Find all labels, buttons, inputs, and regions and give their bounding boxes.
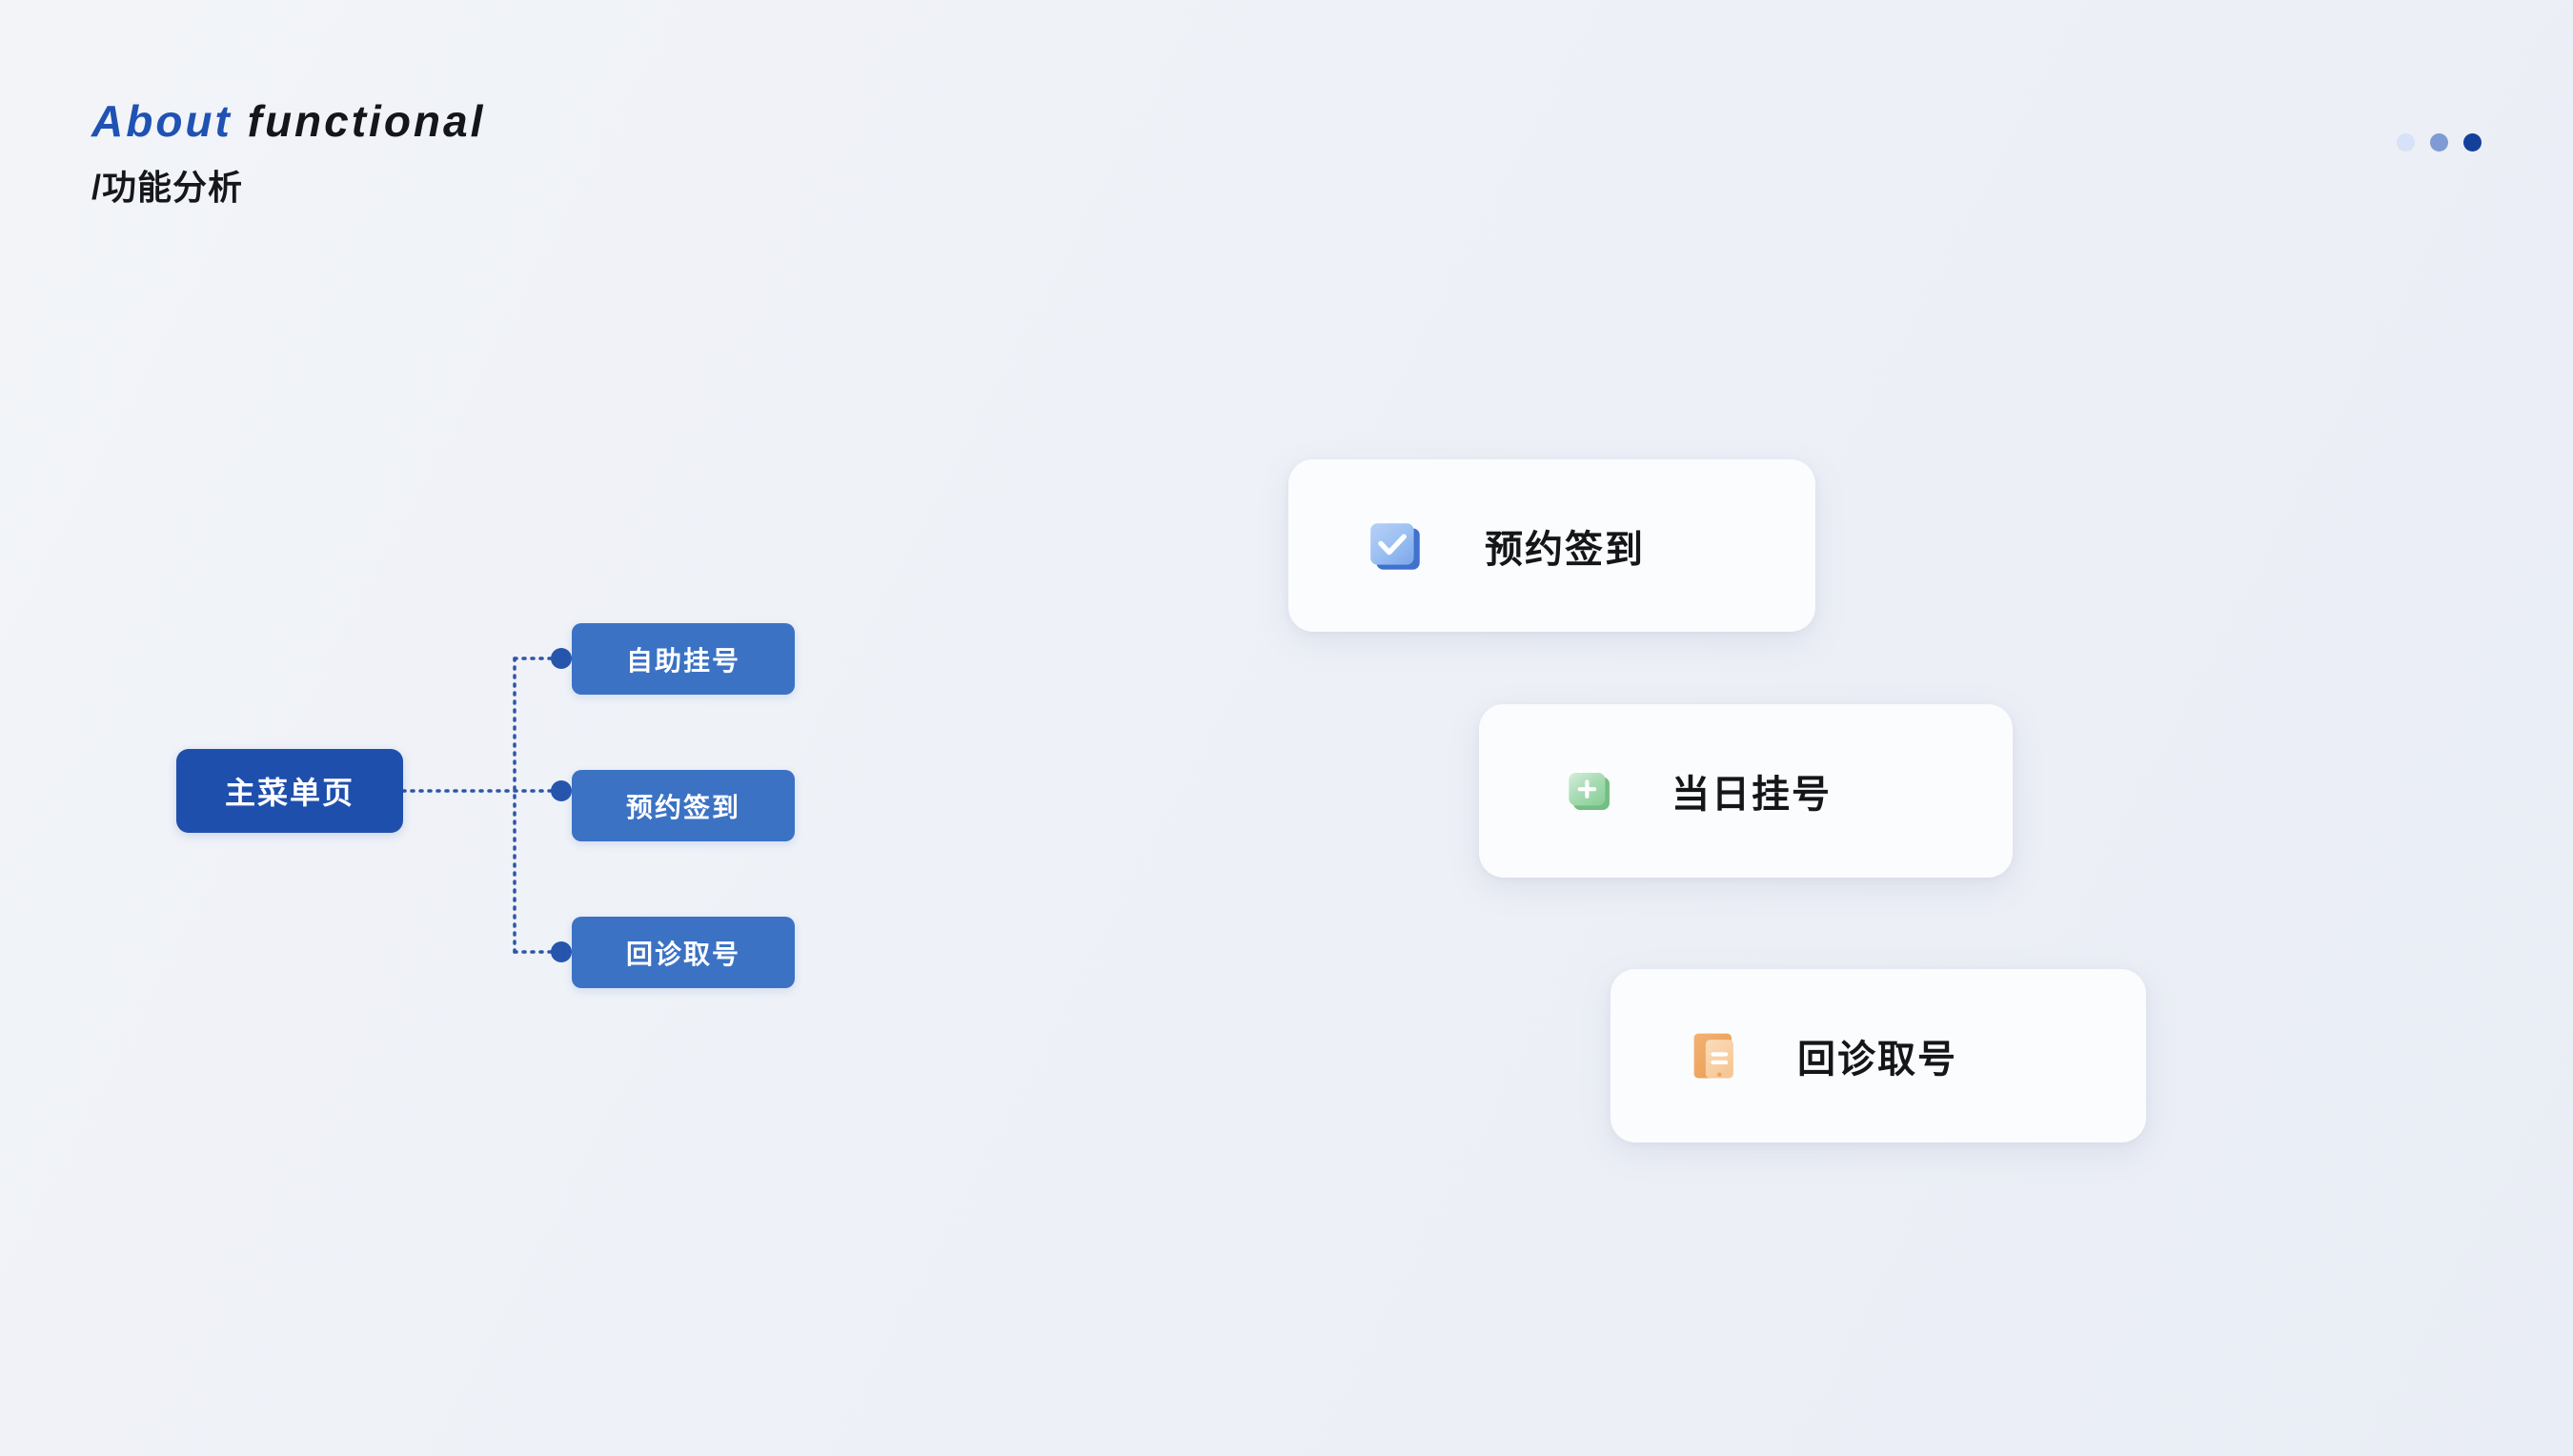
calendar-plus-icon — [1563, 763, 1618, 819]
feature-card-followup-ticket[interactable]: 回诊取号 — [1611, 969, 2146, 1143]
page-subtitle-cn: /功能分析 — [91, 160, 485, 210]
tree-node-self-registration[interactable]: 自助挂号 — [572, 623, 795, 695]
feature-card-label: 预约签到 — [1485, 518, 1645, 574]
slide-root: About functional /功能分析 主菜单页 — [0, 0, 2573, 1456]
tree-node-root[interactable]: 主菜单页 — [176, 749, 403, 833]
pagination-dot-1[interactable] — [2397, 133, 2415, 152]
page-title-en-accent: About — [91, 96, 233, 146]
pagination-dot-2[interactable] — [2430, 133, 2448, 152]
document-lines-icon — [1689, 1027, 1746, 1084]
pagination-dots — [2397, 133, 2482, 152]
tree-node-root-label: 主菜单页 — [225, 769, 355, 813]
tree-node-followup-ticket[interactable]: 回诊取号 — [572, 917, 795, 988]
page-title-block: About functional /功能分析 — [91, 95, 485, 210]
feature-card-same-day-registration[interactable]: 当日挂号 — [1479, 704, 2013, 878]
tree-node-label: 回诊取号 — [626, 934, 740, 972]
page-title-en: About functional — [91, 95, 485, 147]
feature-card-label: 回诊取号 — [1797, 1028, 1957, 1083]
feature-card-appointment-checkin[interactable]: 预约签到 — [1288, 459, 1815, 632]
pagination-dot-3[interactable] — [2463, 133, 2482, 152]
page-title-en-main: functional — [248, 96, 486, 146]
tree-node-label: 预约签到 — [626, 787, 740, 825]
menu-tree-diagram: 主菜单页 自助挂号 预约签到 回诊取号 — [133, 591, 953, 991]
feature-card-label: 当日挂号 — [1671, 763, 1832, 819]
calendar-check-icon — [1365, 515, 1428, 577]
tree-node-label: 自助挂号 — [626, 640, 740, 678]
tree-node-appointment-checkin[interactable]: 预约签到 — [572, 770, 795, 841]
